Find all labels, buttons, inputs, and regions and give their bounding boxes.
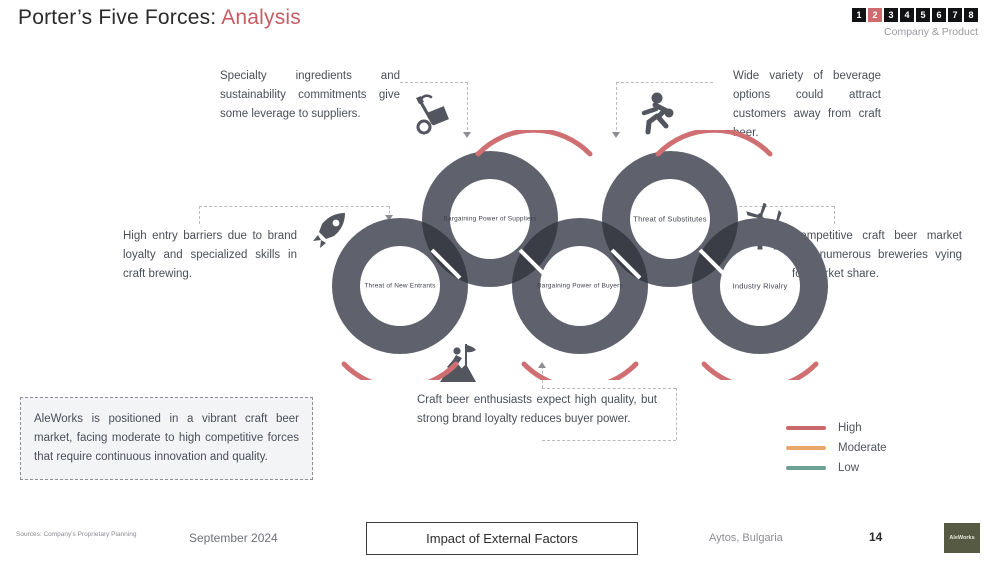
page-indicator-6[interactable]: 6	[932, 8, 946, 22]
legend-item-moderate: Moderate	[786, 438, 887, 458]
legend-swatch-moderate	[786, 446, 826, 450]
footer-ribbon: Impact of External Factors	[366, 522, 638, 555]
ring-label-threat-of-new-entrants: Threat of New Entrants	[364, 283, 435, 290]
sources-text: Sources: Company's Proprietary Planning	[16, 531, 136, 538]
ring-label-industry-rivalry: Industry Rivalry	[733, 282, 788, 291]
page-indicator-label: Company & Product	[884, 26, 978, 38]
legend-label-moderate: Moderate	[838, 442, 887, 454]
note-suppliers: Specialty ingredients and sustainability…	[220, 67, 400, 124]
ring-label-bargaining-power-of-suppliers: Bargaining Power of Suppliers	[443, 216, 536, 223]
footer-date: September 2024	[189, 531, 278, 545]
page-indicator-1[interactable]: 1	[852, 8, 866, 22]
footer-location: Aytos, Bulgaria	[709, 532, 783, 544]
note-buyers: Craft beer enthusiasts expect high quali…	[417, 391, 657, 429]
five-forces-diagram: Threat of New Entrants Bargaining Power …	[300, 130, 860, 385]
page-indicator-3[interactable]: 3	[884, 8, 898, 22]
legend-swatch-high	[786, 426, 826, 430]
legend-item-low: Low	[786, 458, 887, 478]
page-title: Porter’s Five Forces: Analysis	[18, 6, 301, 30]
page-indicator-8[interactable]: 8	[964, 8, 978, 22]
legend-swatch-low	[786, 466, 826, 470]
ring-label-bargaining-power-of-buyers: Bargaining Power of Buyers	[537, 283, 623, 290]
legend-label-low: Low	[838, 462, 859, 474]
page-title-main: Porter’s Five Forces:	[18, 6, 216, 29]
brand-logo: AleWorks	[944, 523, 980, 553]
page-indicator[interactable]: 1 2 3 4 5 6 7 8	[852, 8, 978, 22]
page-indicator-4[interactable]: 4	[900, 8, 914, 22]
legend-label-high: High	[838, 422, 862, 434]
page-indicator-5[interactable]: 5	[916, 8, 930, 22]
legend-item-high: High	[786, 418, 887, 438]
summary-box: AleWorks is positioned in a vibrant craf…	[20, 397, 313, 480]
page-title-accent: Analysis	[221, 6, 301, 29]
page-indicator-7[interactable]: 7	[948, 8, 962, 22]
note-new-entrants: High entry barriers due to brand loyalty…	[123, 227, 297, 284]
ring-label-threat-of-substitutes: Threat of Substitutes	[633, 215, 706, 224]
footer-page-number: 14	[869, 530, 882, 544]
page-indicator-2[interactable]: 2	[868, 8, 882, 22]
ring-overlaps	[300, 130, 860, 380]
legend: High Moderate Low	[786, 418, 887, 478]
